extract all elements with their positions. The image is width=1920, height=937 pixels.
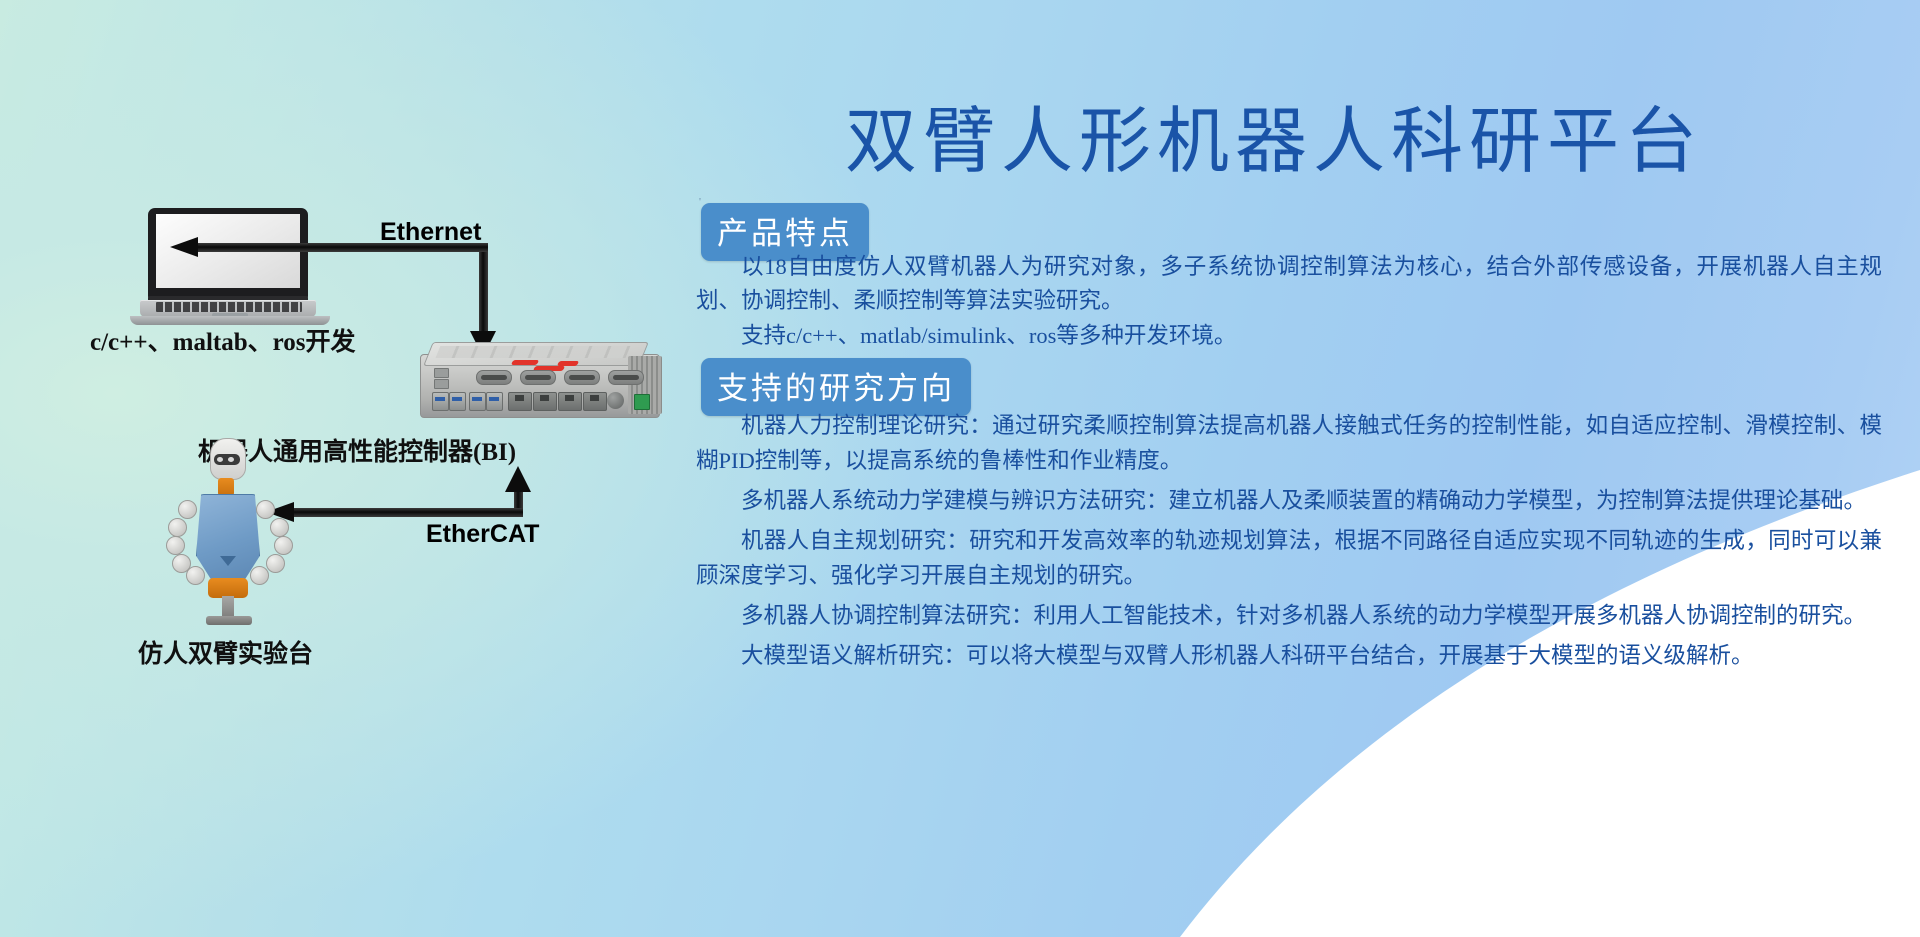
controller-ethernet-port-3 (558, 392, 582, 411)
ethercat-arrowhead-up (505, 466, 531, 492)
robot-left-upper-arm (168, 518, 187, 537)
robot-right-shoulder (256, 500, 275, 519)
robot-waist (208, 578, 248, 598)
research-direction-item: 多机器人协调控制算法研究：利用人工智能技术，针对多机器人系统的动力学模型开展多机… (696, 598, 1882, 633)
controller-usb3-port-3 (469, 392, 486, 411)
system-architecture-diagram: c/c++、maltab、ros开发 Ethernet (0, 0, 700, 937)
research-directions-list: 机器人力控制理论研究：通过研究柔顺控制算法提高机器人接触式任务的控制性能，如自适… (696, 408, 1882, 678)
controller-power-connector (607, 392, 624, 409)
research-direction-item: 机器人力控制理论研究：通过研究柔顺控制算法提高机器人接触式任务的控制性能，如自适… (696, 408, 1882, 478)
controller-terminal-block (634, 394, 650, 410)
ethernet-link-vertical (479, 243, 488, 335)
robot-neck-joint (218, 478, 234, 496)
robot-left-wrist (186, 566, 205, 585)
ethernet-arrowhead-left (170, 237, 198, 257)
controller-serial-port-1 (476, 370, 512, 385)
decorative-tick: ' (699, 196, 705, 202)
controller-serial-port-4 (608, 370, 644, 385)
controller-usb2-port-lower (434, 379, 449, 389)
robot-left-shoulder (178, 500, 197, 519)
page-title: 双臂人形机器人科研平台 (684, 106, 1864, 178)
robot-sensor-visor (214, 454, 240, 465)
robot-torso (196, 494, 260, 582)
humanoid-robot-icon (150, 438, 330, 628)
robot-base-plate (206, 616, 252, 625)
controller-ethernet-port-4 (583, 392, 607, 411)
research-direction-item: 多机器人系统动力学建模与辨识方法研究：建立机器人及柔顺装置的精确动力学模型，为控… (696, 483, 1882, 518)
controller-serial-port-2 (520, 370, 556, 385)
robot-caption: 仿人双臂实验台 (138, 634, 313, 670)
robot-support-column (222, 596, 234, 618)
controller-usb3-port-2 (449, 392, 466, 411)
robot-left-elbow (166, 536, 185, 555)
robot-right-wrist (250, 566, 269, 585)
laptop-icon (138, 208, 324, 318)
controller-usb3-port-4 (486, 392, 503, 411)
controller-serial-port-3 (564, 370, 600, 385)
research-direction-item: 大模型语义解析研究：可以将大模型与双臂人形机器人科研平台结合，开展基于大模型的语… (696, 638, 1882, 673)
controller-top-vents (436, 346, 631, 358)
product-feature-paragraph-2: 支持c/c++、matlab/simulink、ros等多种开发环境。 (696, 319, 1882, 353)
robot-right-forearm (266, 554, 285, 573)
research-direction-item: 机器人自主规划研究：研究和开发高效率的轨迹规划算法，根据不同路径自适应实现不同轨… (696, 523, 1882, 593)
controller-ethernet-port-1 (508, 392, 532, 411)
robot-right-upper-arm (270, 518, 289, 537)
ethercat-label: EtherCAT (426, 520, 539, 549)
laptop-keys (156, 302, 302, 312)
laptop-caption: c/c++、maltab、ros开发 (90, 322, 356, 358)
controller-ethernet-port-2 (533, 392, 557, 411)
controller-usb2-port-upper (434, 368, 449, 378)
robot-right-elbow (274, 536, 293, 555)
ethernet-label: Ethernet (380, 218, 481, 247)
product-feature-paragraph-1: 以18自由度仿人双臂机器人为研究对象，多子系统协调控制算法为核心，结合外部传感设… (696, 250, 1882, 318)
content-panel: 双臂人形机器人科研平台 ' 产品特点 以18自由度仿人双臂机器人为研究对象，多子… (684, 0, 1920, 937)
controller-device-icon (420, 340, 664, 426)
poster-root: c/c++、maltab、ros开发 Ethernet (0, 0, 1920, 937)
controller-usb3-port-1 (432, 392, 449, 411)
